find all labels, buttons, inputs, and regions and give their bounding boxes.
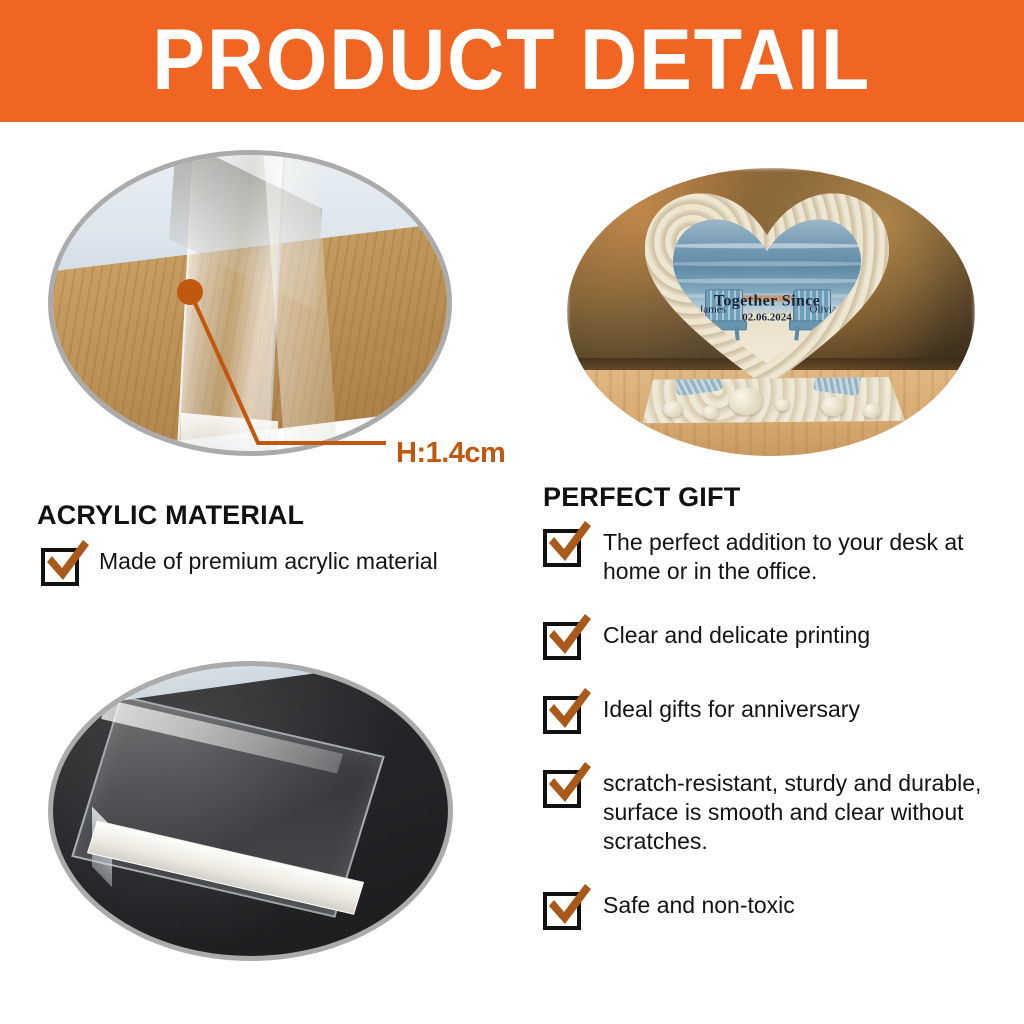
acrylic-slab-scene [48, 661, 453, 961]
feature-item: Ideal gifts for anniversary [543, 690, 1003, 734]
page-title: PRODUCT DETAIL [153, 17, 872, 103]
coral-fan-left [673, 356, 723, 396]
check-icon [545, 762, 593, 808]
heart-plaque: James Olivia Together Since 02.06.2024 [637, 191, 905, 423]
photo-product-heart-plaque: James Olivia Together Since 02.06.2024 [567, 168, 975, 456]
checkbox-checked[interactable] [41, 544, 83, 586]
photo-acrylic-block-edge [48, 150, 452, 456]
caption-together-since: Together Since [671, 292, 863, 310]
shell-small-left [663, 400, 683, 417]
check-icon [545, 688, 593, 734]
photo-acrylic-block-slab [48, 661, 453, 961]
checkbox-checked[interactable] [543, 692, 585, 734]
shell-small-right [863, 403, 881, 418]
feature-text: The perfect addition to your desk at hom… [585, 523, 1003, 586]
checkbox-checked[interactable] [543, 766, 585, 808]
section-title-acrylic-material: ACRYLIC MATERIAL [37, 500, 304, 531]
feature-item: Safe and non-toxic [543, 886, 1003, 930]
checkbox-checked[interactable] [543, 525, 585, 567]
shell-tiny-left [703, 405, 719, 419]
check-icon [545, 614, 593, 660]
shell-large-center [729, 387, 763, 415]
header-banner: PRODUCT DETAIL [0, 0, 1024, 122]
feature-item: Made of premium acrylic material [41, 542, 511, 586]
shell-tiny-center [775, 398, 790, 411]
feature-text: Made of premium acrylic material [83, 542, 438, 576]
check-icon [545, 884, 593, 930]
feature-list-perfect-gift: The perfect addition to your desk at hom… [543, 523, 1003, 960]
feature-text: Safe and non-toxic [585, 886, 795, 920]
acrylic-edge-scene [48, 150, 452, 456]
shell-medium-right [821, 396, 845, 416]
feature-item: The perfect addition to your desk at hom… [543, 523, 1003, 586]
height-label: H:1.4cm [396, 437, 505, 470]
feature-item: Clear and delicate printing [543, 616, 1003, 660]
section-title-perfect-gift: PERFECT GIFT [543, 482, 740, 513]
coral-fan-right [813, 357, 863, 396]
check-icon [43, 540, 91, 586]
feature-list-acrylic: Made of premium acrylic material [41, 542, 511, 616]
feature-item: scratch-resistant, sturdy and durable, s… [543, 764, 1003, 856]
check-icon [545, 521, 593, 567]
feature-text: scratch-resistant, sturdy and durable, s… [585, 764, 1003, 856]
checkbox-checked[interactable] [543, 618, 585, 660]
feature-text: Clear and delicate printing [585, 616, 870, 650]
checkbox-checked[interactable] [543, 888, 585, 930]
feature-text: Ideal gifts for anniversary [585, 690, 860, 724]
